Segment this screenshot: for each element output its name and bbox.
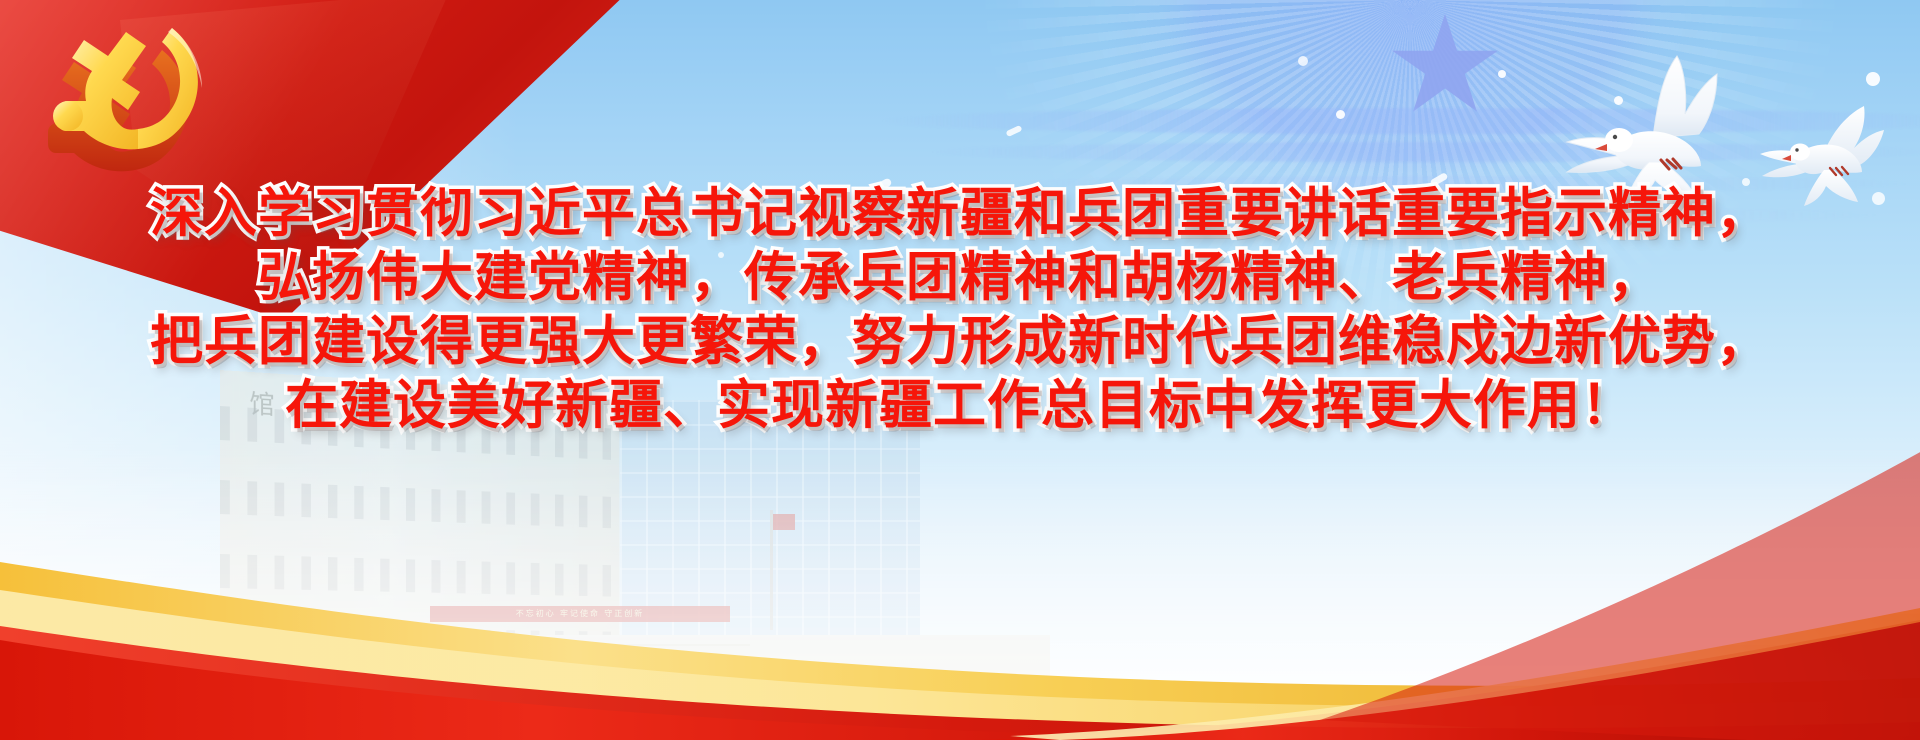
sparkle-dot	[1866, 72, 1880, 86]
headline-line-3: 把兵团建设得更强大更繁荣，努力形成新时代兵团维稳戍边新优势，	[0, 310, 1920, 374]
headline-line-1: 深入学习贯彻习近平总书记视察新疆和兵团重要讲话重要指示精神，	[0, 182, 1920, 246]
headline-line-4: 在建设美好新疆、实现新疆工作总目标中发挥更大作用！	[0, 374, 1920, 438]
sparkle-dot	[1498, 70, 1506, 78]
sparkle-dot	[1336, 110, 1345, 119]
headline-block: 深入学习贯彻习近平总书记视察新疆和兵团重要讲话重要指示精神， 弘扬伟大建党精神，…	[0, 182, 1920, 438]
propaganda-banner: 馆 不忘初心 牢记使命 守正创新 用胡杨精神育人 为兴疆固边服务	[0, 0, 1920, 740]
cpc-emblem-icon	[22, 10, 232, 180]
sparkle-dot	[1298, 56, 1308, 66]
headline-line-2: 弘扬伟大建党精神，传承兵团精神和胡杨精神、老兵精神，	[0, 246, 1920, 310]
right-red-accent	[1200, 430, 1920, 740]
